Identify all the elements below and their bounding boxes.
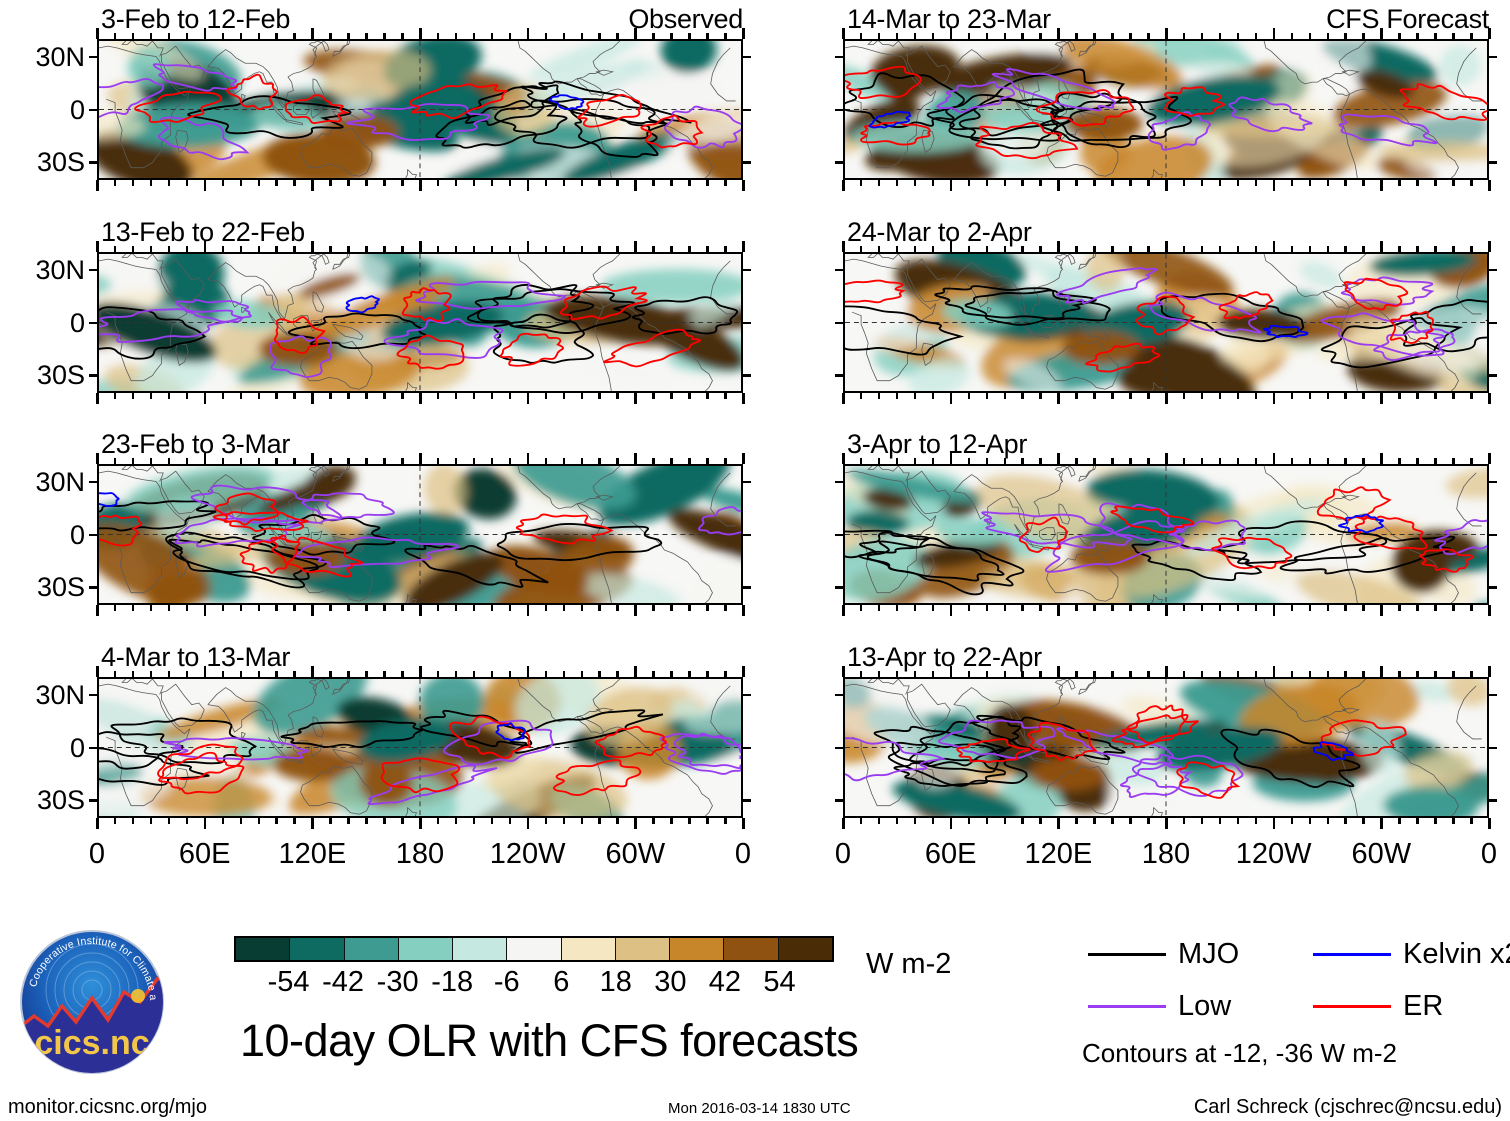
x-axis-tick — [1147, 33, 1150, 39]
legend-label-mjo: MJO — [1178, 940, 1239, 969]
x-axis-tick — [1201, 33, 1204, 39]
colorbar-segment — [236, 938, 290, 960]
x-axis-tick — [1327, 246, 1330, 252]
x-axis-tick — [688, 393, 691, 399]
x-axis-tick — [1488, 818, 1491, 829]
x-axis-tick — [670, 33, 673, 39]
x-axis-tick — [652, 180, 655, 186]
x-axis-tick — [1111, 818, 1114, 824]
x-axis-tick — [1434, 605, 1437, 611]
x-axis-tick — [1344, 33, 1347, 39]
x-axis-tick — [581, 393, 584, 399]
y-axis-tick — [1489, 161, 1497, 164]
x-axis-tick — [616, 671, 619, 677]
x-axis-tick — [1452, 33, 1455, 39]
x-axis-tick — [1488, 666, 1491, 677]
x-axis-tick — [1255, 246, 1258, 252]
x-axis-tick — [842, 453, 845, 464]
x-axis-tick — [1093, 671, 1096, 677]
x-axis-tick — [383, 458, 386, 464]
x-axis-tick — [896, 818, 899, 824]
x-axis-tick — [1147, 180, 1150, 186]
x-axis-tick — [275, 180, 278, 186]
x-axis-tick — [598, 33, 601, 39]
x-axis-tick — [419, 241, 422, 252]
x-axis-tick — [932, 458, 935, 464]
colorbar-tick-label: -6 — [494, 968, 520, 997]
x-axis-tick — [1380, 393, 1383, 404]
x-axis-tick — [1291, 671, 1294, 677]
x-axis-tick — [186, 393, 189, 399]
y-axis-tick-label: 30N — [0, 469, 85, 496]
x-axis-tick — [706, 458, 709, 464]
y-axis-tick — [1489, 534, 1497, 537]
x-axis-tick — [1219, 458, 1222, 464]
footer-author: Carl Schreck (cjschrec@ncsu.edu) — [1194, 1096, 1502, 1119]
legend-item-mjo: MJO — [1088, 940, 1239, 969]
map-field — [845, 41, 1487, 178]
x-axis-tick — [1219, 671, 1222, 677]
x-axis-tick — [491, 246, 494, 252]
x-axis-tick — [986, 393, 989, 399]
x-axis-tick — [1165, 393, 1168, 404]
x-axis-tick — [1291, 393, 1294, 399]
x-axis-tick — [132, 818, 135, 824]
x-axis-tick — [258, 605, 261, 611]
contour-legend: MJO Kelvin x2 Low ER — [1088, 940, 1508, 1040]
x-axis-tick — [1273, 666, 1276, 677]
x-axis-tick — [1470, 605, 1473, 611]
colorbar-tick-label: -54 — [268, 968, 310, 997]
y-axis-tick — [835, 799, 843, 802]
x-axis-tick — [275, 671, 278, 677]
x-axis-tick — [168, 671, 171, 677]
map-field — [845, 466, 1487, 603]
y-axis-tick — [835, 322, 843, 325]
x-axis-tick — [1111, 393, 1114, 399]
x-axis-tick — [545, 393, 548, 399]
x-axis-tick — [1470, 818, 1473, 824]
x-axis-tick — [1362, 180, 1365, 186]
y-axis-tick-label: 0 — [0, 97, 85, 124]
y-axis-tick — [743, 747, 751, 750]
x-axis-tick — [914, 180, 917, 186]
x-axis-tick — [581, 818, 584, 824]
x-axis-tick — [878, 180, 881, 186]
x-axis-tick — [473, 671, 476, 677]
x-axis-tick — [96, 180, 99, 191]
x-axis-tick — [914, 671, 917, 677]
x-axis-tick — [383, 180, 386, 186]
x-axis-tick — [329, 393, 332, 399]
x-axis-tick — [491, 393, 494, 399]
y-axis-tick — [835, 161, 843, 164]
x-axis-tick — [878, 393, 881, 399]
x-axis-tick — [1434, 246, 1437, 252]
x-axis-tick — [1470, 246, 1473, 252]
x-axis-tick — [293, 393, 296, 399]
x-axis-tick — [652, 818, 655, 824]
x-axis-tick — [1093, 818, 1096, 824]
x-axis-tick — [1147, 393, 1150, 399]
x-axis-tick — [634, 605, 637, 616]
x-axis-tick — [1165, 818, 1168, 829]
x-axis-tick — [455, 818, 458, 824]
x-axis-tick — [563, 393, 566, 399]
x-axis-tick — [275, 246, 278, 252]
x-axis-tick — [1362, 33, 1365, 39]
x-axis-tick — [1129, 458, 1132, 464]
x-axis-tick — [688, 246, 691, 252]
x-axis-tick-label: 120W — [1236, 840, 1312, 869]
x-axis-tick — [598, 818, 601, 824]
x-axis-tick — [1093, 246, 1096, 252]
x-axis-tick — [1129, 605, 1132, 611]
x-axis-tick — [1219, 605, 1222, 611]
x-axis-tick — [222, 605, 225, 611]
x-axis-tick — [1093, 458, 1096, 464]
x-axis-tick — [473, 818, 476, 824]
x-axis-tick — [1362, 818, 1365, 824]
x-axis-tick — [1327, 671, 1330, 677]
x-axis-tick — [724, 818, 727, 824]
x-axis-tick — [1380, 605, 1383, 616]
x-axis-tick — [1237, 393, 1240, 399]
x-axis-tick — [186, 818, 189, 824]
x-axis-tick — [932, 605, 935, 611]
x-axis-tick — [311, 180, 314, 191]
x-axis-tick — [258, 180, 261, 186]
x-axis-tick — [968, 33, 971, 39]
footer-timestamp: Mon 2016-03-14 1830 UTC — [668, 1100, 851, 1117]
x-axis-tick — [1057, 453, 1060, 464]
x-axis-tick — [114, 458, 117, 464]
x-axis-tick — [1129, 180, 1132, 186]
x-axis-tick — [204, 666, 207, 677]
y-axis-tick-label: 30S — [0, 574, 85, 601]
panel-title: 13-Apr to 22-Apr — [847, 644, 1042, 671]
panel-title: 23-Feb to 3-Mar — [101, 431, 290, 458]
x-axis-tick — [222, 246, 225, 252]
x-axis-tick — [1004, 818, 1007, 824]
y-axis-tick — [1489, 269, 1497, 272]
x-axis-tick — [1111, 671, 1114, 677]
x-axis-tick — [383, 246, 386, 252]
x-axis-tick — [168, 33, 171, 39]
x-axis-tick — [1093, 393, 1096, 399]
x-axis-tick — [455, 33, 458, 39]
x-axis-tick — [150, 818, 153, 824]
x-axis-tick — [688, 671, 691, 677]
x-axis-tick — [96, 241, 99, 252]
x-axis-tick — [509, 246, 512, 252]
y-axis-tick — [1489, 56, 1497, 59]
x-axis-tick — [1039, 246, 1042, 252]
x-axis-tick — [1470, 180, 1473, 186]
x-axis-tick — [347, 180, 350, 186]
x-axis-tick — [634, 180, 637, 191]
x-axis-tick — [1416, 180, 1419, 186]
x-axis-tick — [1380, 453, 1383, 464]
x-axis-tick — [132, 671, 135, 677]
x-axis-tick-labels: 060E120E180120W60W0 — [0, 840, 1510, 870]
x-axis-tick — [545, 180, 548, 186]
x-axis-tick — [347, 605, 350, 611]
x-axis-tick — [1147, 671, 1150, 677]
x-axis-tick — [293, 458, 296, 464]
x-axis-tick — [878, 605, 881, 611]
x-axis-tick — [986, 246, 989, 252]
x-axis-tick — [563, 458, 566, 464]
y-axis-tick — [743, 481, 751, 484]
x-axis-tick — [670, 393, 673, 399]
x-axis-tick — [419, 28, 422, 39]
map-plot-area — [97, 252, 743, 393]
x-axis-tick — [1362, 393, 1365, 399]
logo-wordmark: cics.nc — [34, 1024, 149, 1062]
x-axis-tick — [329, 605, 332, 611]
x-axis-tick — [986, 605, 989, 611]
x-axis-tick — [311, 453, 314, 464]
x-axis-tick — [401, 180, 404, 186]
x-axis-tick — [401, 671, 404, 677]
x-axis-tick — [1344, 180, 1347, 186]
x-axis-tick — [634, 453, 637, 464]
x-axis-tick — [1219, 180, 1222, 186]
x-axis-tick — [1255, 671, 1258, 677]
x-axis-tick — [401, 818, 404, 824]
x-axis-tick — [688, 180, 691, 186]
x-axis-tick — [527, 180, 530, 191]
x-axis-tick — [1039, 33, 1042, 39]
x-axis-tick — [1075, 33, 1078, 39]
x-axis-tick — [1057, 241, 1060, 252]
y-axis-tick — [1489, 586, 1497, 589]
x-axis-tick — [724, 246, 727, 252]
colorbar-segment — [562, 938, 616, 960]
x-axis-tick — [186, 246, 189, 252]
x-axis-tick — [1147, 246, 1150, 252]
x-axis-tick — [150, 180, 153, 186]
x-axis-tick — [527, 28, 530, 39]
x-axis-tick — [634, 666, 637, 677]
x-axis-tick — [842, 605, 845, 616]
x-axis-tick — [581, 605, 584, 611]
x-axis-tick — [742, 180, 745, 191]
x-axis-tick — [1237, 671, 1240, 677]
x-axis-tick — [240, 246, 243, 252]
x-axis-tick — [1273, 818, 1276, 829]
x-axis-tick — [1219, 246, 1222, 252]
map-plot-area — [843, 252, 1489, 393]
x-axis-tick — [688, 33, 691, 39]
x-axis-tick — [1309, 180, 1312, 186]
x-axis-tick — [1362, 246, 1365, 252]
x-axis-tick — [150, 458, 153, 464]
footer-url[interactable]: monitor.cicsnc.org/mjo — [8, 1096, 207, 1119]
x-axis-tick — [652, 246, 655, 252]
x-axis-tick — [878, 33, 881, 39]
x-axis-tick — [670, 246, 673, 252]
x-axis-tick — [258, 818, 261, 824]
x-axis-tick — [598, 671, 601, 677]
x-axis-tick — [688, 458, 691, 464]
x-axis-tick — [1291, 33, 1294, 39]
x-axis-tick — [383, 671, 386, 677]
x-axis-tick — [896, 393, 899, 399]
x-axis-tick — [150, 246, 153, 252]
x-axis-tick — [1255, 393, 1258, 399]
x-axis-tick — [1344, 818, 1347, 824]
x-axis-tick — [1255, 605, 1258, 611]
x-axis-tick — [742, 241, 745, 252]
x-axis-tick — [1021, 458, 1024, 464]
x-axis-tick — [527, 666, 530, 677]
x-axis-tick — [1057, 393, 1060, 404]
colorbar-segment — [616, 938, 670, 960]
x-axis-tick — [986, 33, 989, 39]
x-axis-tick — [1075, 180, 1078, 186]
x-axis-tick-label: 120E — [1024, 840, 1092, 869]
x-axis-tick — [950, 393, 953, 404]
x-axis-tick — [1075, 818, 1078, 824]
x-axis-tick — [509, 393, 512, 399]
x-axis-tick — [401, 393, 404, 399]
y-axis-tick-label: 30S — [0, 787, 85, 814]
x-axis-tick — [1488, 605, 1491, 616]
x-axis-tick — [932, 33, 935, 39]
x-axis-tick — [950, 453, 953, 464]
x-axis-tick-label: 0 — [1481, 840, 1497, 869]
x-axis-tick — [1111, 246, 1114, 252]
colorbar-tick-label: -18 — [431, 968, 473, 997]
x-axis-tick — [114, 246, 117, 252]
x-axis-tick — [842, 666, 845, 677]
x-axis-tick — [1237, 33, 1240, 39]
colorbar-tick-label: -30 — [377, 968, 419, 997]
x-axis-tick — [222, 180, 225, 186]
x-axis-tick — [365, 180, 368, 186]
x-axis-tick — [1004, 246, 1007, 252]
y-axis-tick — [89, 322, 97, 325]
x-axis-tick — [293, 246, 296, 252]
x-axis-tick — [168, 458, 171, 464]
x-axis-tick — [742, 605, 745, 616]
y-axis-tick — [1489, 109, 1497, 112]
x-axis-tick — [706, 180, 709, 186]
x-axis-tick — [1470, 393, 1473, 399]
x-axis-tick — [563, 605, 566, 611]
x-axis-tick — [1273, 241, 1276, 252]
y-axis-tick — [743, 586, 751, 589]
x-axis-tick — [1470, 33, 1473, 39]
x-axis-tick — [1470, 458, 1473, 464]
x-axis-tick — [329, 818, 332, 824]
x-axis-tick — [401, 458, 404, 464]
x-axis-tick — [670, 818, 673, 824]
x-axis-tick — [1075, 605, 1078, 611]
x-axis-tick — [473, 458, 476, 464]
x-axis-tick — [204, 180, 207, 191]
x-axis-tick — [1416, 818, 1419, 824]
x-axis-tick — [1291, 458, 1294, 464]
x-axis-tick — [670, 458, 673, 464]
x-axis-tick — [204, 818, 207, 829]
x-axis-tick — [1219, 393, 1222, 399]
x-axis-tick — [204, 453, 207, 464]
colorbar-segment — [453, 938, 507, 960]
y-axis-tick — [743, 269, 751, 272]
x-axis-tick — [1327, 458, 1330, 464]
x-axis-tick — [842, 28, 845, 39]
x-axis-tick — [1452, 671, 1455, 677]
legend-line-low — [1088, 1005, 1166, 1008]
y-axis-tick — [743, 56, 751, 59]
x-axis-tick — [437, 393, 440, 399]
x-axis-tick — [1057, 605, 1060, 616]
x-axis-tick — [186, 33, 189, 39]
x-axis-tick — [860, 818, 863, 824]
x-axis-tick — [437, 180, 440, 186]
x-axis-tick — [222, 33, 225, 39]
x-axis-tick — [896, 605, 899, 611]
logo-graphic: cics.nc Cooperative Institute for Climat… — [18, 928, 166, 1076]
map-field — [845, 679, 1487, 816]
x-axis-tick — [1039, 605, 1042, 611]
x-axis-tick — [706, 671, 709, 677]
x-axis-tick — [598, 393, 601, 399]
x-axis-tick — [706, 393, 709, 399]
x-axis-tick — [1075, 671, 1078, 677]
y-axis-tick — [1489, 374, 1497, 377]
x-axis-tick — [878, 671, 881, 677]
x-axis-tick — [1470, 671, 1473, 677]
x-axis-tick — [1183, 246, 1186, 252]
colorbar-segment — [290, 938, 344, 960]
x-axis-tick — [311, 818, 314, 829]
x-axis-tick — [932, 246, 935, 252]
x-axis-tick — [1201, 818, 1204, 824]
x-axis-tick — [1327, 393, 1330, 399]
x-axis-tick — [527, 393, 530, 404]
x-axis-tick — [1380, 818, 1383, 829]
x-axis-tick — [419, 453, 422, 464]
map-field — [99, 41, 741, 178]
x-axis-tick — [1183, 458, 1186, 464]
x-axis-tick — [258, 33, 261, 39]
x-axis-tick — [240, 33, 243, 39]
x-axis-tick — [563, 33, 566, 39]
x-axis-tick — [652, 671, 655, 677]
y-axis-tick — [1489, 747, 1497, 750]
x-axis-tick — [1165, 241, 1168, 252]
x-axis-tick — [132, 180, 135, 186]
y-axis-tick — [1489, 322, 1497, 325]
x-axis-tick — [1057, 180, 1060, 191]
x-axis-tick — [150, 33, 153, 39]
x-axis-tick — [1380, 28, 1383, 39]
x-axis-tick — [437, 458, 440, 464]
x-axis-tick — [1004, 458, 1007, 464]
x-axis-tick — [168, 605, 171, 611]
x-axis-tick — [634, 818, 637, 829]
x-axis-tick — [1255, 818, 1258, 824]
x-axis-tick — [932, 393, 935, 399]
x-axis-tick — [986, 458, 989, 464]
x-axis-tick — [1309, 605, 1312, 611]
x-axis-tick — [1219, 33, 1222, 39]
x-axis-tick — [563, 246, 566, 252]
